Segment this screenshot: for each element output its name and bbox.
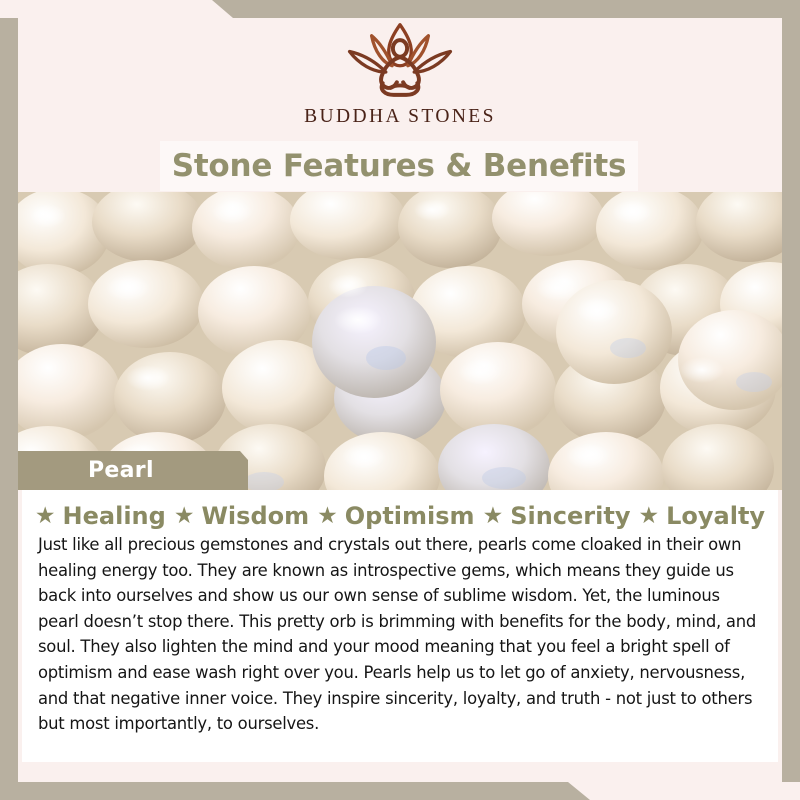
pearls-photo-illustration <box>18 192 782 490</box>
brand-name: BUDDHA STONES <box>304 106 496 128</box>
keyword-item-healing: ★ Healing <box>35 502 166 530</box>
keyword-list: ★ Healing ★ Wisdom ★ Optimism ★ Sincerit… <box>22 490 778 530</box>
keyword-item-sincerity: ★ Sincerity <box>483 502 631 530</box>
brand-logo: BUDDHA STONES <box>0 20 800 140</box>
star-icon: ★ <box>317 505 338 528</box>
description-text: Just like all precious gemstones and cry… <box>38 532 764 737</box>
keyword-item-wisdom: ★ Wisdom <box>174 502 309 530</box>
keyword-label: Sincerity <box>510 502 630 530</box>
content-card: ★ Healing ★ Wisdom ★ Optimism ★ Sincerit… <box>22 490 778 762</box>
star-icon: ★ <box>483 505 504 528</box>
lotus-meditation-icon <box>312 20 488 102</box>
star-icon: ★ <box>174 505 195 528</box>
photo-caption-banner: Pearl <box>18 451 248 490</box>
photo-caption: Pearl <box>88 458 154 483</box>
keyword-label: Loyalty <box>666 502 765 530</box>
frame-top-border <box>0 0 800 18</box>
star-icon: ★ <box>35 505 56 528</box>
keyword-item-loyalty: ★ Loyalty <box>638 502 765 530</box>
keyword-label: Optimism <box>345 502 475 530</box>
keyword-label: Wisdom <box>201 502 309 530</box>
frame-right-cap <box>782 782 800 800</box>
poster: BUDDHA STONES Stone Features & Benefits <box>0 0 800 800</box>
star-icon: ★ <box>638 505 659 528</box>
keyword-label: Healing <box>63 502 166 530</box>
title-banner: Stone Features & Benefits <box>160 141 638 191</box>
keyword-item-optimism: ★ Optimism <box>317 502 474 530</box>
frame-bottom-border <box>0 782 800 800</box>
page-title: Stone Features & Benefits <box>172 148 627 184</box>
pearls-photo <box>18 192 782 490</box>
frame-left-cap <box>0 0 18 18</box>
